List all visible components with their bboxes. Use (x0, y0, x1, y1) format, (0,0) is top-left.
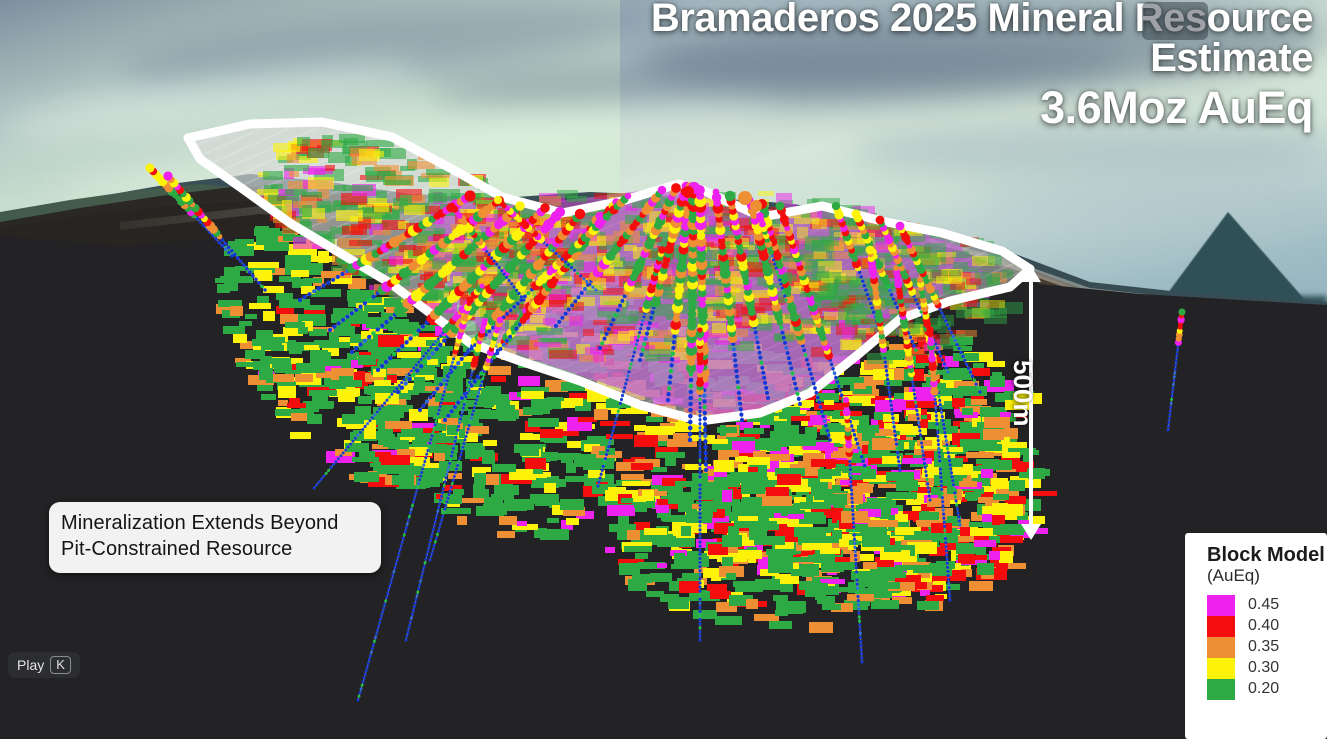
assay-interval (407, 377, 411, 381)
assay-interval (383, 603, 386, 606)
assay-interval (698, 426, 701, 429)
assay-interval (470, 347, 474, 351)
assay-interval (759, 361, 763, 365)
assay-interval (859, 451, 863, 455)
assay-interval (450, 454, 453, 457)
assay-interval (869, 302, 873, 306)
assay-interval (698, 606, 701, 609)
assay-interval (834, 376, 838, 380)
assay-interval (698, 626, 701, 629)
assay-interval (698, 410, 701, 413)
assay-interval (623, 386, 626, 389)
assay-interval (459, 418, 462, 421)
assay-interval (479, 384, 482, 387)
assay-interval (527, 291, 531, 295)
assay-interval (508, 279, 511, 282)
assay-interval (425, 554, 428, 557)
assay-interval (366, 422, 369, 425)
assay-interval (610, 433, 613, 436)
assay-interval (438, 409, 441, 412)
assay-interval (783, 294, 786, 297)
assay-interval (884, 365, 887, 368)
assay-interval (956, 507, 959, 510)
assay-interval (895, 447, 898, 450)
assay-interval (848, 460, 851, 463)
assay-interval (916, 302, 919, 305)
assay-interval (435, 387, 439, 391)
assay-interval (371, 647, 374, 650)
assay-interval (892, 425, 895, 428)
assay-interval (891, 412, 894, 415)
assay-interval (737, 391, 741, 395)
assay-interval (439, 405, 442, 408)
assay-interval (698, 585, 701, 588)
assay-interval (927, 486, 930, 489)
assay-interval (594, 288, 597, 291)
assay-interval (472, 409, 475, 412)
assay-interval (914, 348, 918, 352)
assay-interval (600, 473, 603, 476)
assay-interval (390, 577, 393, 580)
assay-interval (947, 455, 950, 458)
assay-interval (698, 398, 701, 401)
assay-interval (555, 207, 565, 217)
assay-interval (633, 351, 636, 354)
assay-interval (892, 297, 896, 301)
assay-interval (620, 299, 624, 303)
assay-interval (411, 504, 414, 507)
assay-interval (925, 474, 928, 477)
assay-interval (891, 417, 894, 420)
assay-interval (380, 614, 383, 617)
assay-interval (925, 478, 928, 481)
assay-interval (438, 343, 442, 347)
assay-interval (698, 520, 701, 523)
assay-interval (460, 414, 463, 417)
assay-interval (854, 558, 857, 561)
assay-interval (937, 350, 940, 353)
assay-interval (778, 278, 781, 281)
assay-interval (857, 611, 860, 614)
assay-interval (783, 341, 787, 345)
assay-interval (461, 446, 464, 449)
assay-interval (857, 607, 860, 610)
assay-interval (819, 405, 823, 409)
assay-interval (434, 521, 437, 524)
assay-interval (698, 475, 701, 478)
assay-interval (388, 585, 391, 588)
assay-interval (483, 313, 488, 318)
assay-interval (515, 289, 518, 292)
assay-interval (450, 486, 453, 489)
assay-interval (570, 266, 573, 269)
assay-interval (452, 357, 455, 360)
assay-interval (802, 348, 806, 352)
assay-interval (697, 327, 702, 332)
assay-interval (498, 266, 501, 269)
assay-interval (703, 428, 707, 432)
assay-interval (361, 428, 364, 431)
assay-interval (409, 620, 412, 623)
assay-interval (614, 313, 618, 317)
assay-interval (487, 329, 491, 333)
drill-hole (163, 171, 266, 291)
assay-interval (615, 418, 618, 421)
assay-interval (920, 441, 923, 444)
assay-interval (428, 395, 432, 399)
assay-interval (698, 569, 701, 572)
assay-interval (924, 466, 927, 469)
assay-interval (947, 451, 950, 454)
assay-interval (443, 390, 446, 393)
assay-interval (356, 434, 359, 437)
assay-interval (698, 618, 701, 621)
assay-interval (412, 609, 415, 612)
assay-interval (937, 395, 940, 398)
assay-interval (350, 311, 354, 315)
assay-interval (540, 203, 550, 213)
assay-interval (639, 327, 642, 330)
assay-interval (328, 328, 332, 332)
assay-interval (408, 336, 412, 340)
assay-interval (462, 442, 465, 445)
assay-interval (698, 577, 701, 580)
assay-interval (424, 456, 427, 459)
assay-interval (955, 343, 958, 346)
assay-interval (466, 388, 469, 391)
assay-interval (858, 615, 861, 618)
assay-interval (669, 369, 673, 373)
assay-interval (948, 327, 951, 330)
assay-interval (837, 385, 841, 389)
assay-interval (843, 397, 849, 403)
assay-interval (493, 260, 496, 263)
assay-interval (897, 460, 900, 463)
assay-interval (762, 376, 766, 380)
assay-interval (848, 464, 851, 467)
assay-interval (703, 445, 707, 449)
assay-interval (419, 475, 422, 478)
assay-interval (376, 327, 380, 331)
assay-interval (448, 462, 451, 465)
assay-interval (369, 419, 372, 422)
assay-interval (645, 332, 649, 336)
assay-interval (779, 326, 783, 330)
assay-interval (298, 298, 302, 302)
assay-interval (824, 424, 828, 428)
assay-interval (853, 534, 856, 537)
assay-interval (858, 620, 861, 623)
assay-interval (864, 468, 868, 472)
assay-interval (756, 212, 764, 220)
assay-interval (688, 408, 693, 413)
assay-interval (453, 405, 457, 409)
assay-interval (928, 494, 931, 497)
assay-interval (956, 511, 959, 514)
assay-interval (945, 439, 948, 442)
assay-interval (917, 421, 920, 424)
assay-interval (946, 323, 949, 326)
assay-interval (703, 405, 707, 409)
assay-interval (505, 312, 509, 316)
assay-interval (941, 358, 944, 361)
assay-interval (939, 354, 942, 357)
assay-interval (855, 570, 858, 573)
assay-interval (465, 392, 468, 395)
assay-interval (370, 651, 373, 654)
assay-interval (596, 484, 599, 487)
assay-interval (948, 598, 951, 601)
assay-interval (386, 592, 389, 595)
assay-interval (853, 433, 857, 437)
assay-interval (508, 335, 512, 339)
assay-interval (812, 382, 816, 386)
assay-interval (600, 341, 604, 345)
assay-interval (453, 365, 457, 369)
assay-interval (894, 434, 897, 437)
assay-interval (820, 410, 824, 414)
assay-interval (698, 638, 701, 641)
assay-interval (400, 344, 404, 348)
assay-interval (830, 363, 834, 367)
drill-hole (712, 189, 744, 423)
assay-interval (494, 196, 502, 204)
assay-interval (703, 439, 707, 443)
assay-interval (420, 358, 423, 361)
assay-interval (618, 406, 621, 409)
assay-interval (444, 504, 447, 507)
assay-interval (426, 550, 429, 553)
assay-interval (810, 377, 814, 381)
assay-interval (354, 346, 358, 350)
assay-interval (765, 391, 769, 395)
assay-interval (374, 636, 377, 639)
assay-interval (893, 265, 899, 271)
assay-interval (145, 163, 154, 172)
assay-interval (467, 385, 470, 388)
assay-interval (957, 347, 960, 350)
assay-interval (939, 403, 942, 406)
assay-interval (371, 416, 374, 419)
assay-interval (425, 453, 428, 456)
assay-interval (953, 487, 956, 490)
assay-interval (641, 347, 645, 351)
assay-interval (511, 331, 515, 335)
assay-interval (740, 418, 744, 422)
assay-interval (436, 510, 439, 513)
assay-interval (435, 537, 438, 540)
assay-interval (406, 631, 409, 634)
assay-interval (928, 498, 931, 501)
assay-interval (967, 367, 970, 370)
assay-interval (512, 305, 516, 309)
assay-interval (734, 364, 738, 368)
assay-interval (898, 468, 901, 471)
assay-interval (861, 280, 865, 284)
assay-interval (373, 413, 376, 416)
assay-interval (419, 580, 422, 583)
assay-interval (631, 359, 634, 362)
assay-interval (462, 407, 465, 410)
assay-interval (389, 316, 393, 320)
assay-interval (359, 431, 362, 434)
assay-interval (431, 434, 434, 437)
assay-interval (449, 368, 452, 371)
assay-interval (337, 457, 340, 460)
assay-interval (736, 380, 740, 384)
assay-interval (858, 628, 861, 631)
assay-interval (698, 590, 701, 593)
assay-interval (969, 371, 972, 374)
assay-interval (450, 409, 454, 413)
assay-interval (347, 446, 350, 449)
assay-interval (852, 210, 861, 219)
assay-interval (698, 451, 701, 454)
assay-interval (894, 438, 897, 441)
assay-interval (403, 378, 406, 381)
assay-interval (371, 331, 375, 335)
assay-interval (948, 459, 951, 462)
assay-interval (859, 275, 863, 279)
assay-interval (946, 370, 949, 373)
assay-interval (503, 273, 506, 276)
assay-interval (860, 648, 863, 651)
assay-interval (725, 191, 735, 201)
assay-interval (704, 462, 708, 466)
assay-interval (407, 628, 410, 631)
assay-interval (588, 283, 591, 286)
assay-interval (858, 624, 861, 627)
assay-interval (915, 409, 918, 412)
assay-interval (885, 373, 888, 376)
assay-interval (443, 508, 446, 511)
assay-interval (464, 399, 467, 402)
assay-interval (849, 476, 852, 479)
assay-interval (946, 447, 949, 450)
assay-interval (499, 347, 503, 351)
assay-interval (888, 289, 892, 293)
assay-interval (852, 529, 855, 532)
assay-interval (254, 278, 258, 282)
assay-interval (738, 402, 742, 406)
assay-interval (688, 426, 693, 431)
assay-interval (856, 595, 859, 598)
assay-interval (622, 390, 625, 393)
assay-interval (326, 281, 330, 285)
assay-interval (860, 660, 863, 663)
assay-interval (851, 513, 854, 516)
assay-interval (853, 546, 856, 549)
assay-interval (941, 415, 944, 418)
assay-interval (897, 455, 900, 458)
assay-interval (444, 480, 447, 483)
assay-interval (914, 397, 917, 400)
assay-interval (952, 335, 955, 338)
assay-interval (815, 391, 819, 395)
assay-interval (382, 607, 385, 610)
assay-interval (362, 680, 365, 683)
assay-interval (373, 640, 376, 643)
assay-interval (564, 312, 568, 316)
assay-interval (366, 666, 369, 669)
assay-interval (943, 427, 946, 430)
assay-interval (337, 321, 341, 325)
assay-interval (620, 398, 623, 401)
assay-interval (859, 632, 862, 635)
assay-interval (703, 416, 707, 420)
assay-interval (233, 253, 237, 257)
assay-interval (950, 471, 953, 474)
assay-interval (442, 378, 446, 382)
assay-interval (395, 387, 398, 390)
assay-interval (926, 482, 929, 485)
assay-interval (435, 517, 438, 520)
assay-interval (779, 282, 782, 285)
assay-interval (797, 397, 801, 401)
assay-interval (782, 336, 786, 340)
assay-interval (446, 379, 449, 382)
assay-interval (601, 469, 604, 472)
assay-interval (698, 602, 701, 605)
assay-interval (836, 380, 840, 384)
assay-interval (303, 295, 307, 299)
assay-interval (689, 384, 694, 389)
assay-interval (963, 359, 966, 362)
assay-interval (833, 371, 837, 375)
assay-interval (598, 346, 602, 350)
assay-interval (739, 413, 743, 417)
assay-interval (698, 467, 701, 470)
drill-hole (145, 163, 233, 257)
assay-interval (332, 463, 335, 466)
assay-interval (921, 450, 924, 453)
assay-interval (443, 418, 447, 422)
assay-interval (736, 385, 740, 389)
assay-interval (605, 453, 608, 456)
assay-interval (942, 423, 945, 426)
assay-interval (510, 282, 513, 285)
assay-interval (469, 420, 472, 423)
assay-interval (754, 330, 758, 334)
assay-interval (922, 458, 925, 461)
assay-interval (944, 435, 947, 438)
assay-interval (885, 369, 888, 372)
assay-interval (263, 288, 267, 292)
assay-interval (606, 449, 609, 452)
assay-interval (426, 449, 429, 452)
assay-interval (809, 372, 813, 376)
assay-interval (414, 602, 417, 605)
assay-interval (854, 562, 857, 565)
assay-interval (618, 304, 622, 308)
drill-hole (843, 397, 864, 664)
assay-interval (564, 260, 567, 263)
assay-interval (737, 396, 741, 400)
assay-interval (884, 361, 887, 364)
assay-interval (945, 443, 948, 446)
assay-interval (890, 404, 893, 407)
assay-interval (784, 346, 788, 350)
assay-interval (577, 295, 581, 299)
assay-interval (639, 353, 643, 357)
assay-interval (625, 193, 632, 200)
assay-interval (668, 375, 672, 379)
assay-interval (412, 500, 415, 503)
assay-interval (698, 557, 701, 560)
assay-interval (861, 459, 865, 463)
assay-interval (388, 356, 392, 360)
assay-interval (422, 355, 425, 358)
